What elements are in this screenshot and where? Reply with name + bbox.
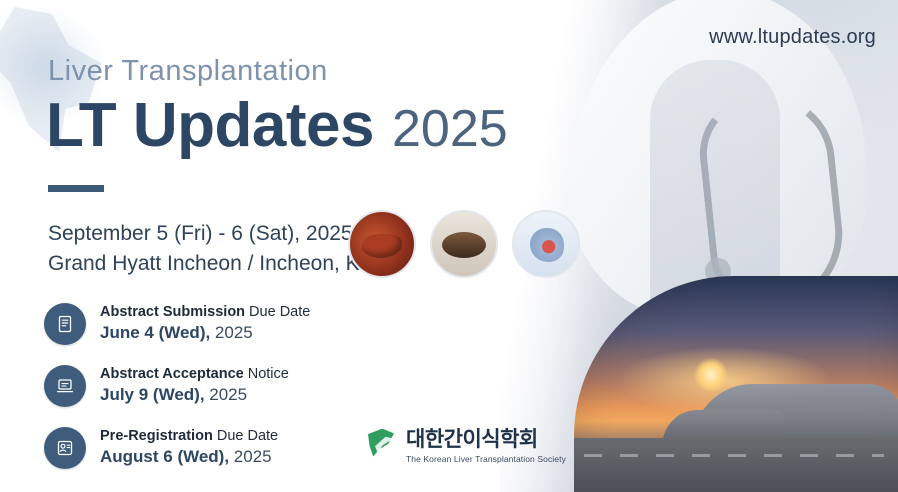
document-icon xyxy=(44,303,86,345)
event-dates: September 5 (Fri) - 6 (Sat), 2025 xyxy=(48,222,353,246)
society-mark-icon xyxy=(368,427,398,461)
society-name-kr: 대한간이식학회 xyxy=(406,423,566,453)
thumbnail-group xyxy=(348,210,580,278)
deadline-label: Pre-Registration Due Date xyxy=(100,427,278,446)
liver-photo-icon xyxy=(348,210,416,278)
deadline-date: July 9 (Wed), 2025 xyxy=(100,384,289,406)
deadline-label: Abstract Acceptance Notice xyxy=(100,365,289,384)
society-logo: 대한간이식학회 The Korean Liver Transplantation… xyxy=(368,423,566,464)
list-item: Pre-Registration Due Date August 6 (Wed)… xyxy=(44,427,310,469)
deadline-label: Abstract Submission Due Date xyxy=(100,303,310,322)
deadline-text: Pre-Registration Due Date August 6 (Wed)… xyxy=(100,427,278,469)
deadline-label-bold: Abstract Submission xyxy=(100,304,245,320)
title-year: 2025 xyxy=(392,103,508,155)
subtitle-kicker: Liver Transplantation xyxy=(48,55,328,88)
deadline-label-bold: Abstract Acceptance xyxy=(100,366,244,382)
deadline-date-rest: 2025 xyxy=(210,323,253,342)
deadline-label-rest: Notice xyxy=(244,366,289,382)
title-block: LT Updates 2025 xyxy=(46,95,508,157)
deadline-label-bold: Pre-Registration xyxy=(100,428,213,444)
deadline-text: Abstract Acceptance Notice July 9 (Wed),… xyxy=(100,365,289,407)
registration-icon xyxy=(44,427,86,469)
laptop-icon xyxy=(44,365,86,407)
list-item: Abstract Acceptance Notice July 9 (Wed),… xyxy=(44,365,310,407)
sun-icon xyxy=(694,358,728,392)
deadline-label-rest: Due Date xyxy=(213,428,278,444)
deadline-text: Abstract Submission Due Date June 4 (Wed… xyxy=(100,303,310,345)
website-url[interactable]: www.ltupdates.org xyxy=(709,26,876,49)
ct-scan-photo-icon xyxy=(512,210,580,278)
deadline-date: June 4 (Wed), 2025 xyxy=(100,322,310,344)
deadline-label-rest: Due Date xyxy=(245,304,310,320)
deadline-date: August 6 (Wed), 2025 xyxy=(100,446,278,468)
airport-terminal-shape xyxy=(692,384,898,446)
deadline-date-bold: August 6 (Wed), xyxy=(100,447,229,466)
deadline-date-rest: 2025 xyxy=(229,447,272,466)
poster-canvas: www.ltupdates.org Liver Transplantation … xyxy=(0,0,898,492)
list-item: Abstract Submission Due Date June 4 (Wed… xyxy=(44,303,310,345)
deadline-date-bold: June 4 (Wed), xyxy=(100,323,210,342)
society-name-en: The Korean Liver Transplantation Society xyxy=(406,454,566,464)
deadline-date-bold: July 9 (Wed), xyxy=(100,385,205,404)
title-divider xyxy=(48,185,104,192)
page-title: LT Updates xyxy=(46,95,374,157)
deadline-list: Abstract Submission Due Date June 4 (Wed… xyxy=(44,303,310,469)
society-name-block: 대한간이식학회 The Korean Liver Transplantation… xyxy=(406,423,566,464)
deadline-date-rest: 2025 xyxy=(205,385,248,404)
surgery-photo-icon xyxy=(430,210,498,278)
ground-shape xyxy=(574,438,898,492)
